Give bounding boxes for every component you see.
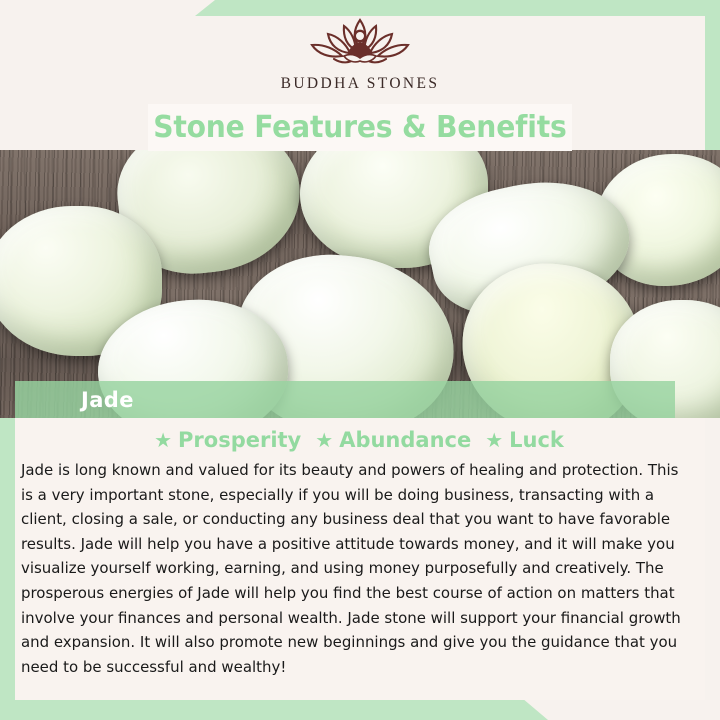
stone-name-label: Jade <box>81 388 134 412</box>
stone-photo <box>0 150 720 418</box>
benefit-label: Luck <box>509 428 564 452</box>
brand-logo: BUDDHA STONES <box>0 14 720 106</box>
stone-description: Jade is long known and valued for its be… <box>19 456 689 679</box>
benefits-row: ★ Prosperity ★ Abundance ★ Luck <box>19 424 699 456</box>
benefit-item: ★ Abundance <box>315 428 471 452</box>
benefit-label: Abundance <box>339 428 471 452</box>
stone-name-bar: Jade <box>15 381 675 418</box>
benefit-label: Prosperity <box>178 428 301 452</box>
frame-accent-bottom <box>0 698 720 720</box>
benefit-item: ★ Luck <box>485 428 564 452</box>
star-icon: ★ <box>485 430 503 450</box>
star-icon: ★ <box>315 430 333 450</box>
content-panel: ★ Prosperity ★ Abundance ★ Luck Jade is … <box>15 418 705 700</box>
lotus-meditation-icon <box>294 14 426 74</box>
page-title: Stone Features & Benefits <box>153 110 566 145</box>
brand-name: BUDDHA STONES <box>281 75 440 93</box>
frame-accent-left <box>0 378 15 720</box>
star-icon: ★ <box>154 430 172 450</box>
benefit-item: ★ Prosperity <box>154 428 301 452</box>
title-banner: Stone Features & Benefits <box>148 104 572 151</box>
